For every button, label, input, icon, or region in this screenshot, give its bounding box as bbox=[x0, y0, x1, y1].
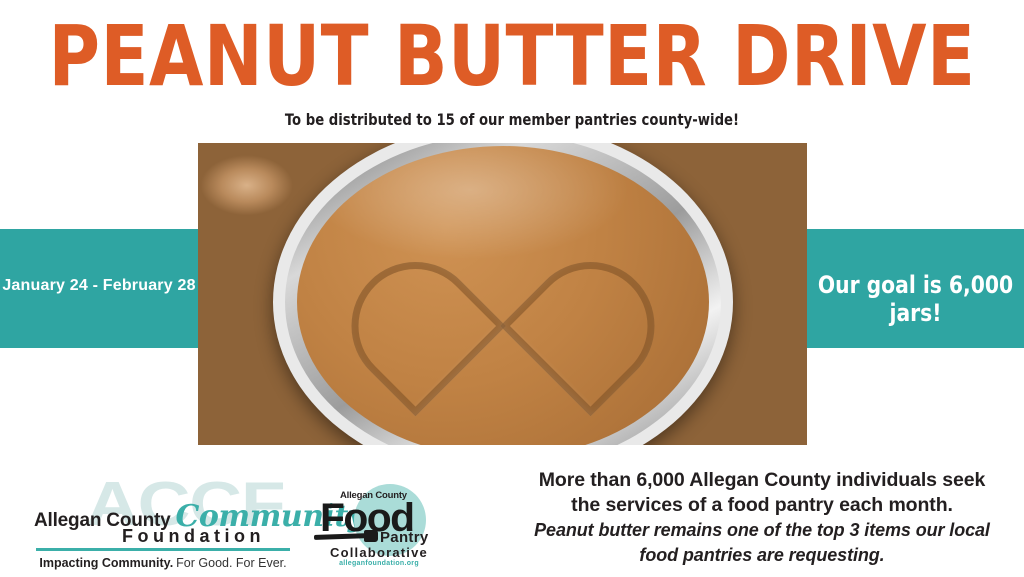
accf-divider bbox=[36, 548, 290, 551]
peanut-butter-surface bbox=[297, 146, 709, 445]
peanut-butter-photo bbox=[198, 143, 807, 445]
accf-tagline-light: For Good. For Ever. bbox=[176, 556, 286, 570]
accf-tagline-bold: Impacting Community. bbox=[39, 556, 173, 570]
fork-icon-head bbox=[364, 530, 378, 542]
peanut-butter-jar bbox=[273, 143, 733, 445]
accf-logo: ACCF Allegan County Community Foundation… bbox=[34, 474, 292, 570]
accf-tagline: Impacting Community.For Good. For Ever. bbox=[34, 554, 292, 572]
page-title: PEANUT BUTTER DRIVE bbox=[36, 14, 988, 98]
heart-lobe-left bbox=[324, 235, 505, 416]
drive-date-range: January 24 - February 28 bbox=[0, 276, 198, 296]
goal-band: Our goal is 6,000 jars! bbox=[807, 229, 1024, 348]
drive-goal: Our goal is 6,000 jars! bbox=[814, 271, 1018, 327]
body-copy: More than 6,000 Allegan County individua… bbox=[500, 468, 1024, 568]
peanut-butter-drive-flyer: PEANUT BUTTER DRIVE To be distributed to… bbox=[0, 0, 1024, 577]
fpc-url: alleganfoundation.org bbox=[316, 560, 442, 568]
body-line-3: Peanut butter remains one of the top 3 i… bbox=[500, 518, 1024, 543]
heart-lobe-right bbox=[500, 235, 681, 416]
accf-foundation: Foundation bbox=[122, 526, 292, 546]
body-line-1: More than 6,000 Allegan County individua… bbox=[500, 468, 1024, 493]
fpc-pantry: Pantry bbox=[380, 530, 429, 546]
page-subtitle: To be distributed to 15 of our member pa… bbox=[41, 110, 983, 130]
food-pantry-collaborative-logo: Allegan County Food Pantry Collaborative… bbox=[306, 482, 448, 570]
body-line-2: the services of a food pantry each month… bbox=[500, 493, 1024, 518]
body-line-4: food pantries are requesting. bbox=[500, 543, 1024, 568]
date-band: January 24 - February 28 bbox=[0, 229, 198, 348]
fpc-collaborative: Collaborative bbox=[316, 546, 442, 560]
heart-swirl-icon bbox=[378, 198, 628, 424]
